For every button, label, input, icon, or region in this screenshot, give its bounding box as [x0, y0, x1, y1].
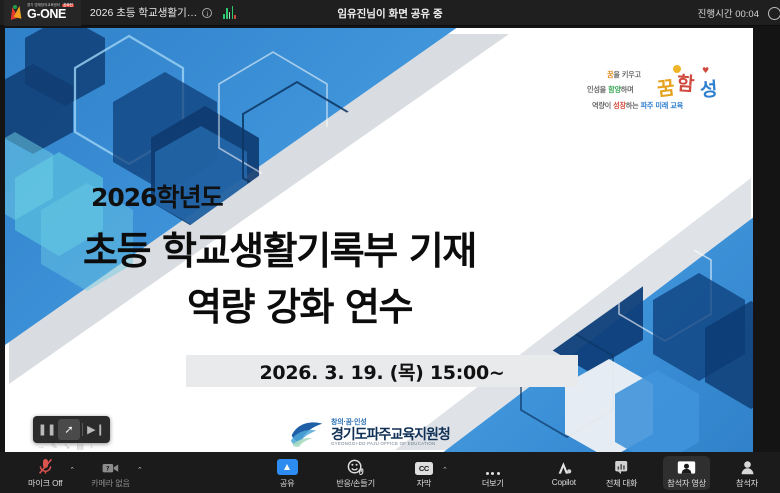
closed-captions-icon: CC [415, 458, 433, 475]
audio-waveform-icon [223, 6, 236, 19]
pause-icon[interactable]: ❚❚ [36, 419, 58, 440]
tool-chat-label: 전체 대화 [606, 477, 637, 489]
next-slide-icon[interactable]: ▶❙ [85, 419, 107, 440]
slogan-logo: 꿈을 키우고 인성을 함양하며 역량이 성장하는 파주 미래 교육 ♥ 꿈 함 … [583, 68, 735, 124]
shared-screen-stage[interactable]: 2026학년도 초등 학교생활기록부 기재 역량 강화 연수 2026. 3. … [5, 28, 753, 452]
ghost-pen-icon: ✎ [51, 442, 58, 451]
slogan-line-2: 인성을 함양하며 [587, 85, 633, 95]
organization-name: 경기도파주교육지원청 [331, 427, 450, 442]
tool-participant-video[interactable]: 참석자 영상 [663, 456, 710, 490]
wordmark-char-2: 함 [676, 68, 693, 96]
ghost-grid-icon: ▤ [76, 442, 84, 451]
organization-logo: 창의·꿈·인성 경기도파주교육지원청 GYEONGGI-DO PAJU OFFI… [290, 418, 450, 448]
captions-chevron-down-icon[interactable]: ⌃ [442, 466, 448, 474]
tool-captions-label: 자막 [417, 477, 432, 489]
slide-date-banner: 2026. 3. 19. (목) 15:00~ [186, 355, 578, 387]
organization-english-name: GYEONGGI-DO PAJU OFFICE OF EDUCATION [331, 442, 450, 447]
slogan-line-3: 역량이 성장하는 파주 미래 교육 [592, 101, 683, 111]
cursor-pointer-icon[interactable]: ➚ [58, 419, 80, 440]
tool-copilot-label: Copilot [552, 478, 576, 487]
slide-title-line1: 초등 학교생활기록부 기재 [83, 220, 476, 275]
ghost-next-icon: › [90, 442, 93, 451]
captions-control[interactable]: CC 자막 ⌃ [409, 456, 448, 490]
chat-icon [614, 458, 630, 475]
app-logo[interactable]: 경기 영재창의교육센터 온라인 G-ONE [4, 0, 81, 26]
wordmark-char-3: 성 [699, 74, 716, 102]
bottom-toolbar-right: Copilot 전체 대화 [548, 452, 762, 493]
tool-share-label: 공유 [280, 477, 295, 489]
tool-more[interactable]: 더보기 [478, 456, 508, 490]
tool-share[interactable]: 공유 [272, 456, 302, 490]
tool-more-label: 더보기 [482, 477, 504, 489]
tool-reactions[interactable]: 반응/손들기 [332, 456, 379, 490]
tool-participant-video-label: 참석자 영상 [667, 477, 706, 489]
heart-icon: ♥ [702, 66, 709, 75]
circle-button-icon[interactable] [768, 7, 780, 20]
tool-chat[interactable]: 전체 대화 [602, 456, 641, 490]
reactions-raise-hand-icon [347, 458, 365, 475]
wave-swoosh-icon [290, 418, 324, 448]
ghost-arrow-icon: → [37, 442, 45, 451]
tool-captions[interactable]: CC 자막 [409, 456, 439, 490]
presentation-slide: 2026학년도 초등 학교생활기록부 기재 역량 강화 연수 2026. 3. … [5, 28, 753, 452]
participants-icon [740, 458, 755, 475]
presenter-toolbar[interactable]: ❚❚ ➚ ▶❙ [33, 416, 110, 443]
tool-participants[interactable]: 참석자 [732, 456, 762, 490]
top-bar: 경기 영재창의교육센터 온라인 G-ONE 2026 초등 학교생활기… i 임… [0, 0, 780, 26]
top-bar-left: 경기 영재창의교육센터 온라인 G-ONE 2026 초등 학교생활기… i [0, 0, 236, 26]
tool-copilot[interactable]: Copilot [548, 457, 580, 488]
tool-reactions-label: 반응/손들기 [336, 477, 375, 489]
more-options-icon [486, 458, 500, 475]
brand-name: G-ONE [27, 8, 74, 21]
slogan-wordmark: ♥ 꿈 함 성 [655, 66, 733, 100]
copilot-icon [555, 459, 573, 476]
g-one-mark-icon [8, 5, 24, 20]
ghost-cursor-icon: ➘ [64, 442, 71, 451]
bottom-toolbar: 마이크 Off ⌃ ? 카메라 없음 ⌃ [0, 452, 780, 493]
info-icon[interactable]: i [202, 8, 212, 18]
top-bar-right: 진행시간 00:04 [698, 0, 780, 26]
meeting-window: 경기 영재창의교육센터 온라인 G-ONE 2026 초등 학교생활기… i 임… [0, 0, 780, 493]
slogan-line-1: 꿈을 키우고 [607, 70, 641, 80]
tool-participants-label: 참석자 [736, 477, 758, 489]
participant-video-icon [677, 458, 696, 475]
meeting-title[interactable]: 2026 초등 학교생활기… [90, 5, 197, 20]
slide-year: 2026학년도 [91, 178, 223, 214]
wordmark-char-1: 꿈 [655, 73, 674, 102]
share-screen-icon [277, 458, 298, 475]
slide-title-line2: 역량 강화 연수 [187, 276, 412, 331]
elapsed-time: 진행시간 00:04 [698, 6, 759, 20]
